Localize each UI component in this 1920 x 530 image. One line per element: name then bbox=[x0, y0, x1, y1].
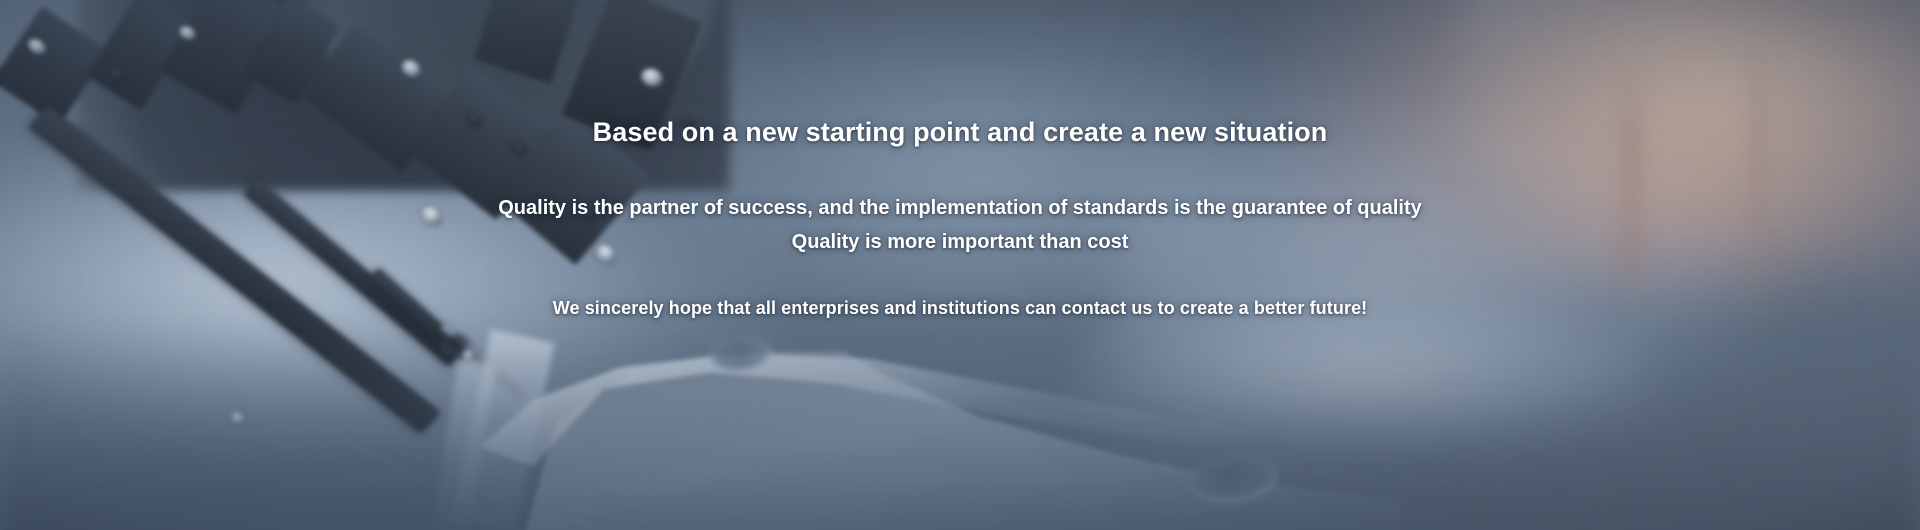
hero-subline: Quality is the partner of success, and t… bbox=[498, 191, 1422, 260]
hero-banner: Based on a new starting point and create… bbox=[0, 0, 1920, 530]
hero-headline: Based on a new starting point and create… bbox=[593, 116, 1328, 150]
hero-subline-line-2: Quality is more important than cost bbox=[498, 225, 1422, 259]
hero-tagline: We sincerely hope that all enterprises a… bbox=[553, 298, 1368, 319]
background-bottom-shade bbox=[0, 318, 1920, 530]
hero-subline-line-1: Quality is the partner of success, and t… bbox=[498, 197, 1422, 219]
hero-background-photo bbox=[0, 0, 1920, 530]
